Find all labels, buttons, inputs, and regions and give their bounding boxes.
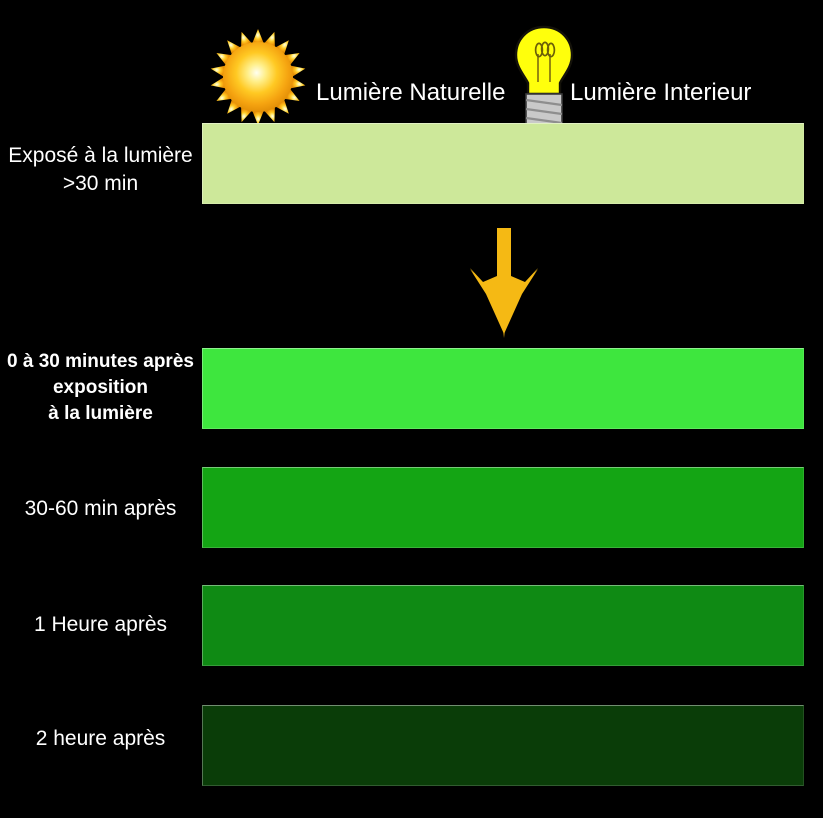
diagram-canvas: Lumière Naturelle Lumière Interieur xyxy=(0,0,823,818)
sun-icon xyxy=(201,26,315,128)
lightbulb-icon xyxy=(512,24,576,130)
row-label-line: 30-60 min après xyxy=(0,495,201,523)
row-label-0-30-min: 0 à 30 minutes après exposition à la lum… xyxy=(0,349,201,428)
bar-1-hour xyxy=(202,585,804,666)
legend-label-indoor-light: Lumière Interieur xyxy=(570,81,751,105)
bar-30-60-min xyxy=(202,467,804,548)
row-label-line: Exposé à la lumière xyxy=(0,142,201,170)
arrow-down-icon xyxy=(452,228,556,338)
row-label-line: à la lumière xyxy=(0,401,201,427)
bar-fill xyxy=(202,467,804,548)
bar-0-30-min xyxy=(202,348,804,429)
bar-fill xyxy=(202,123,804,204)
row-label-line: exposition xyxy=(0,375,201,401)
legend-label-natural-light: Lumière Naturelle xyxy=(316,81,505,105)
row-label-line: 2 heure après xyxy=(0,725,201,753)
row-label-30-60-min: 30-60 min après xyxy=(0,495,201,523)
row-label-2-hours: 2 heure après xyxy=(0,725,201,753)
row-label-exposed: Exposé à la lumière >30 min xyxy=(0,142,201,197)
bar-exposed xyxy=(202,123,804,204)
row-label-1-hour: 1 Heure après xyxy=(0,611,201,639)
row-label-line: 1 Heure après xyxy=(0,611,201,639)
row-label-line: 0 à 30 minutes après xyxy=(0,349,201,375)
bar-fill xyxy=(202,585,804,666)
bar-fill xyxy=(202,348,804,429)
bar-fill xyxy=(202,705,804,786)
bar-2-hours xyxy=(202,705,804,786)
row-label-line: >30 min xyxy=(0,170,201,198)
